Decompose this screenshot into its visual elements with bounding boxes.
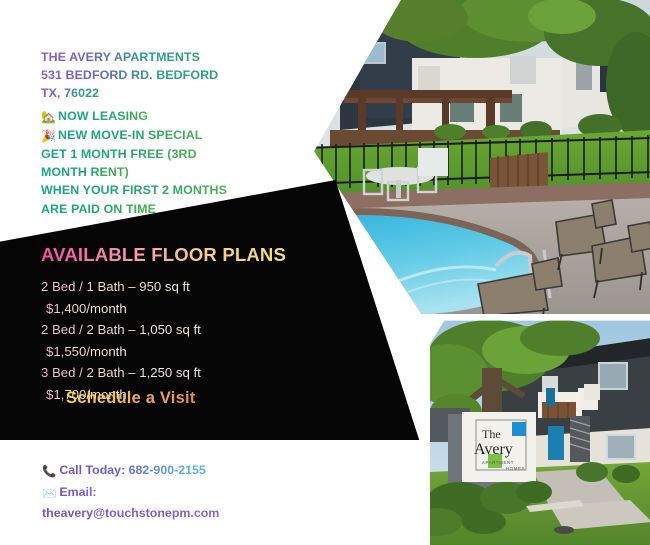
phone-label: Call Today: 682-900-2155 — [59, 461, 205, 481]
telephone-receiver-icon: 📞 — [42, 463, 56, 483]
property-name: THE AVERY APARTMENTS — [41, 48, 200, 66]
email-address: theavery@touchstonepm.com — [42, 504, 219, 524]
floor-plan-price-line: $1,550/month — [41, 341, 311, 363]
floor-plans-title-line: AVAILABLE FLOOR PLANS — [41, 243, 311, 267]
svg-text:Avery: Avery — [474, 441, 513, 458]
floor-plan-price: $1,550/month — [46, 341, 127, 363]
svg-text:The: The — [482, 427, 501, 441]
property-street-line: 531 BEDFORD RD. BEDFORD — [41, 66, 296, 84]
floor-plan-desc-line: 3 Bed / 2 Bath – 1,250 sq ft — [41, 362, 311, 384]
property-street: 531 BEDFORD RD. BEDFORD — [41, 66, 218, 84]
svg-text:HOMES: HOMES — [506, 466, 525, 471]
floor-plan-row: 2 Bed / 1 Bath – 950 sq ft $1,400/month — [41, 276, 311, 319]
party-popper-icon: 🎉 — [41, 127, 56, 145]
svg-text:APARTMENT: APARTMENT — [482, 460, 514, 465]
property-city-state-zip: TX, 76022 — [41, 84, 99, 102]
schedule-visit-label: Schedule a Visit — [66, 389, 195, 408]
contact-section: 📞Call Today: 682-900-2155 ✉️Email: theav… — [42, 461, 322, 524]
now-leasing-line: 🏡NOW LEASING — [41, 107, 296, 126]
apartment-flyer: The Avery APARTMENT HOMES Bedf THE AVERY… — [0, 0, 650, 545]
house-with-garden-icon: 🏡 — [41, 108, 56, 126]
signage-photo-art: The Avery APARTMENT HOMES Bedf — [430, 316, 650, 545]
property-citystate-line: TX, 76022 — [41, 84, 296, 102]
email-label-line: ✉️Email: — [42, 483, 322, 505]
special-detail-line-1: GET 1 MONTH FREE (3RD — [41, 145, 296, 163]
floor-plan-desc: 2 Bed / 1 Bath – 950 sq ft — [41, 276, 190, 298]
special-detail-2: MONTH RENT) — [41, 163, 129, 181]
sign-blue-square — [512, 422, 526, 436]
move-in-special-line: 🎉NEW MOVE-IN SPECIAL — [41, 126, 296, 145]
schedule-visit-button[interactable]: Schedule a Visit — [66, 389, 195, 408]
move-in-special-label: NEW MOVE-IN SPECIAL — [58, 126, 202, 144]
special-detail-1: GET 1 MONTH FREE (3RD — [41, 145, 197, 163]
special-detail-line-2: MONTH RENT) — [41, 163, 296, 181]
floor-plan-row: 2 Bed / 2 Bath – 1,050 sq ft $1,550/mont… — [41, 319, 311, 362]
envelope-icon: ✉️ — [42, 485, 56, 505]
floor-plan-desc: 2 Bed / 2 Bath – 1,050 sq ft — [41, 319, 201, 341]
special-detail-4: ARE PAID ON TIME — [41, 200, 156, 218]
property-signage-photo: The Avery APARTMENT HOMES Bedf — [430, 316, 650, 545]
floor-plan-desc-line: 2 Bed / 2 Bath – 1,050 sq ft — [41, 319, 311, 341]
floor-plan-desc: 3 Bed / 2 Bath – 1,250 sq ft — [41, 362, 201, 384]
floor-plan-desc-line: 2 Bed / 1 Bath – 950 sq ft — [41, 276, 311, 298]
floor-plans-section: AVAILABLE FLOOR PLANS 2 Bed / 1 Bath – 9… — [41, 243, 311, 405]
property-name-line: THE AVERY APARTMENTS — [41, 48, 296, 66]
floor-plan-price-line: $1,400/month — [41, 298, 311, 320]
floor-plans-title: AVAILABLE FLOOR PLANS — [41, 243, 286, 267]
special-detail-line-3: WHEN YOUR FIRST 2 MONTHS — [41, 181, 296, 199]
email-label: Email: — [59, 483, 96, 503]
special-detail-line-4: ARE PAID ON TIME — [41, 200, 296, 218]
special-detail-3: WHEN YOUR FIRST 2 MONTHS — [41, 181, 227, 199]
now-leasing-label: NOW LEASING — [58, 107, 148, 125]
property-header: THE AVERY APARTMENTS 531 BEDFORD RD. BED… — [41, 48, 296, 218]
phone-line[interactable]: 📞Call Today: 682-900-2155 — [42, 461, 322, 483]
floor-plan-price: $1,400/month — [46, 298, 127, 320]
email-address-line[interactable]: theavery@touchstonepm.com — [42, 504, 322, 524]
